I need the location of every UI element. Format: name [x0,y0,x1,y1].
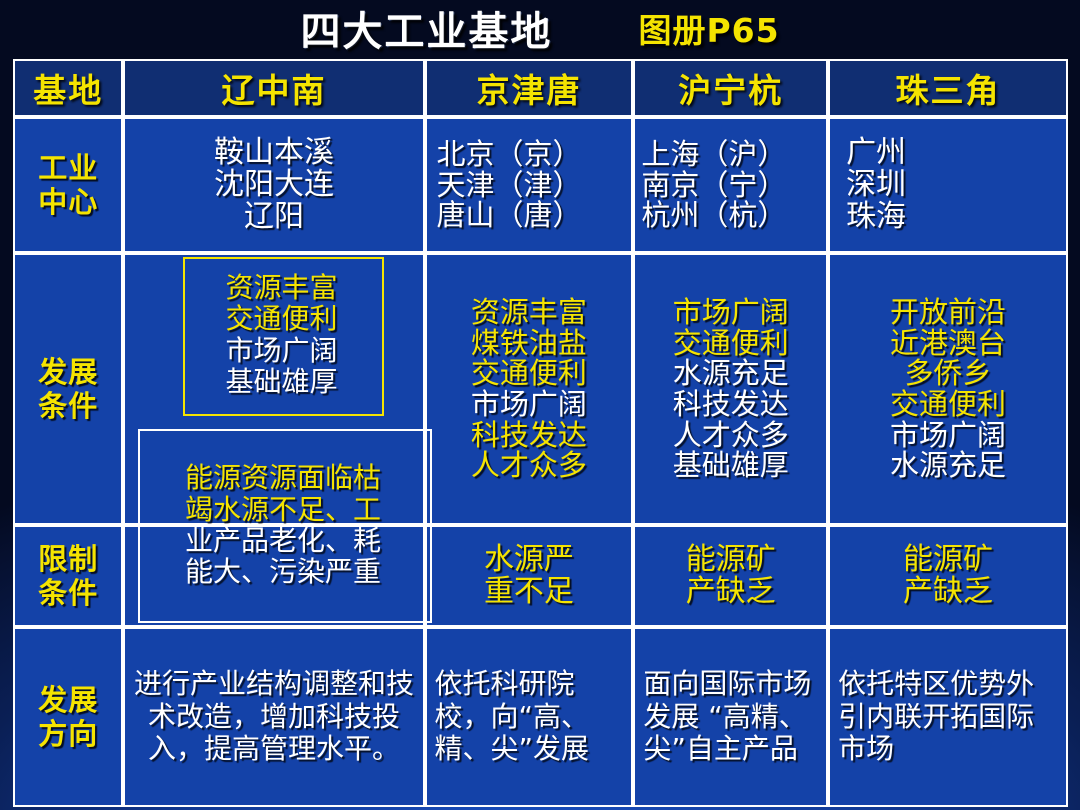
rowlabel-line: 工业 [17,151,119,185]
cell-line: 珠海 [846,201,1064,233]
cell-line: 市场广阔 [637,297,824,328]
table-row-development-direction: 发展 方向 进行产业结构调整和技术改造，增加科技投入，提高管理水平。 依托科研院… [13,627,1068,807]
cell-limits-zhusanjiao: 能源矿 产缺乏 [828,525,1068,627]
cell-line: 鞍山本溪 [127,137,420,169]
cell-line: 科技发达 [637,389,824,420]
cell-conditions-huninghang: 市场广阔 交通便利 水源充足 科技发达 人才众多 基础雄厚 [633,253,828,525]
cell-line: 科技发达 [429,420,630,451]
header-label-zhusanjiao: 珠三角 [896,71,1001,110]
header-cell-liaozhongnan: 辽中南 [123,59,424,117]
cell-direction-liaozhongnan: 进行产业结构调整和技术改造，增加科技投入，提高管理水平。 [123,627,424,807]
title-reference-note: 图册P65 [638,4,779,52]
cell-line: 水源严 [429,544,630,576]
header-cell-rowlabel: 基地 [13,59,123,117]
cell-line: 人才众多 [637,420,824,451]
cell-centers-zhusanjiao: 广州 深圳 珠海 [828,117,1068,253]
cell-line: 能源矿 [637,544,824,576]
cell-limits-huninghang: 能源矿 产缺乏 [633,525,828,627]
cell-direction-huninghang: 面向国际市场发展 “高精、尖”自主产品 [633,627,828,807]
cell-line: 近港澳台 [832,328,1064,359]
cell-paragraph: 依托特区优势外引内联开拓国际市场 [832,668,1064,765]
rowlabel-limiting-conditions: 限制 条件 [13,525,123,627]
cell-paragraph: 依托科研院校，向“高、精、尖”发展 [429,668,630,765]
rowlabel-line: 方向 [17,717,119,751]
table-row-development-conditions: 发展 条件 资源丰富 煤铁油盐 交通便利 市场广阔 科技发达 人才众多 [13,253,1068,525]
rowlabel-development-conditions: 发展 条件 [13,253,123,525]
rowlabel-line: 条件 [17,389,119,423]
four-industrial-bases-table-wrap: 基地 辽中南 京津唐 沪宁杭 珠三角 [13,59,1068,807]
cell-line: 天津（津） [437,170,630,201]
cell-line: 广州 [846,137,1064,169]
cell-paragraph: 面向国际市场发展 “高精、尖”自主产品 [637,668,824,765]
cell-direction-jingjintang: 依托科研院校，向“高、精、尖”发展 [425,627,634,807]
cell-line: 上海（沪） [641,139,824,170]
rowlabel-line: 中心 [17,185,119,219]
cell-line: 水源充足 [637,358,824,389]
rowlabel-line: 限制 [17,542,119,576]
cell-line: 北京（京） [437,139,630,170]
cell-centers-jingjintang: 北京（京） 天津（津） 唐山（唐） [425,117,634,253]
cell-line: 人才众多 [429,450,630,481]
cell-line: 多侨乡 [832,358,1064,389]
cell-line: 煤铁油盐 [429,328,630,359]
cell-line: 市场广阔 [429,389,630,420]
cell-line: 唐山（唐） [437,200,630,231]
cell-direction-zhusanjiao: 依托特区优势外引内联开拓国际市场 [828,627,1068,807]
cell-line: 交通便利 [832,389,1064,420]
rowlabel-line: 发展 [17,355,119,389]
cell-line: 交通便利 [637,328,824,359]
cell-line: 辽阳 [127,201,420,233]
rowlabel-development-direction: 发展 方向 [13,627,123,807]
cell-conditions-liaozhongnan [123,253,424,525]
cell-line: 能源矿 [832,544,1064,576]
cell-line: 南京（宁） [641,170,824,201]
cell-centers-liaozhongnan: 鞍山本溪 沈阳大连 辽阳 [123,117,424,253]
cell-line: 深圳 [846,169,1064,201]
rowlabel-line: 条件 [17,576,119,610]
cell-limits-liaozhongnan [123,525,424,627]
four-industrial-bases-table: 基地 辽中南 京津唐 沪宁杭 珠三角 [13,59,1068,807]
rowlabel-industrial-centers: 工业 中心 [13,117,123,253]
cell-line: 重不足 [429,576,630,608]
cell-line: 产缺乏 [832,576,1064,608]
header-cell-zhusanjiao: 珠三角 [828,59,1068,117]
cell-conditions-jingjintang: 资源丰富 煤铁油盐 交通便利 市场广阔 科技发达 人才众多 [425,253,634,525]
cell-line: 杭州（杭） [641,200,824,231]
slide-title-bar: 四大工业基地 图册P65 [0,0,1080,56]
cell-line: 产缺乏 [637,576,824,608]
table-header-row: 基地 辽中南 京津唐 沪宁杭 珠三角 [13,59,1068,117]
cell-paragraph: 进行产业结构调整和技术改造，增加科技投入，提高管理水平。 [127,668,420,765]
cell-line: 水源充足 [832,450,1064,481]
header-label-huninghang: 沪宁杭 [678,71,783,110]
header-label-jingjintang: 京津唐 [476,71,581,110]
cell-line: 基础雄厚 [637,450,824,481]
cell-line: 资源丰富 [429,297,630,328]
cell-line: 开放前沿 [832,297,1064,328]
cell-limits-jingjintang: 水源严 重不足 [425,525,634,627]
cell-line: 沈阳大连 [127,169,420,201]
page-title: 四大工业基地 [300,0,552,57]
header-cell-huninghang: 沪宁杭 [633,59,828,117]
slide-canvas: 四大工业基地 图册P65 基地 辽中南 京津唐 [0,0,1080,810]
cell-centers-huninghang: 上海（沪） 南京（宁） 杭州（杭） [633,117,828,253]
header-label-base: 基地 [33,71,103,110]
cell-line: 市场广阔 [832,420,1064,451]
header-label-liaozhongnan: 辽中南 [221,71,326,110]
table-row-limiting-conditions: 限制 条件 水源严 重不足 能源矿 产缺乏 [13,525,1068,627]
table-row-industrial-centers: 工业 中心 鞍山本溪 沈阳大连 辽阳 北京（京） [13,117,1068,253]
rowlabel-line: 发展 [17,683,119,717]
cell-conditions-zhusanjiao: 开放前沿 近港澳台 多侨乡 交通便利 市场广阔 水源充足 [828,253,1068,525]
header-cell-jingjintang: 京津唐 [425,59,634,117]
cell-line: 交通便利 [429,358,630,389]
